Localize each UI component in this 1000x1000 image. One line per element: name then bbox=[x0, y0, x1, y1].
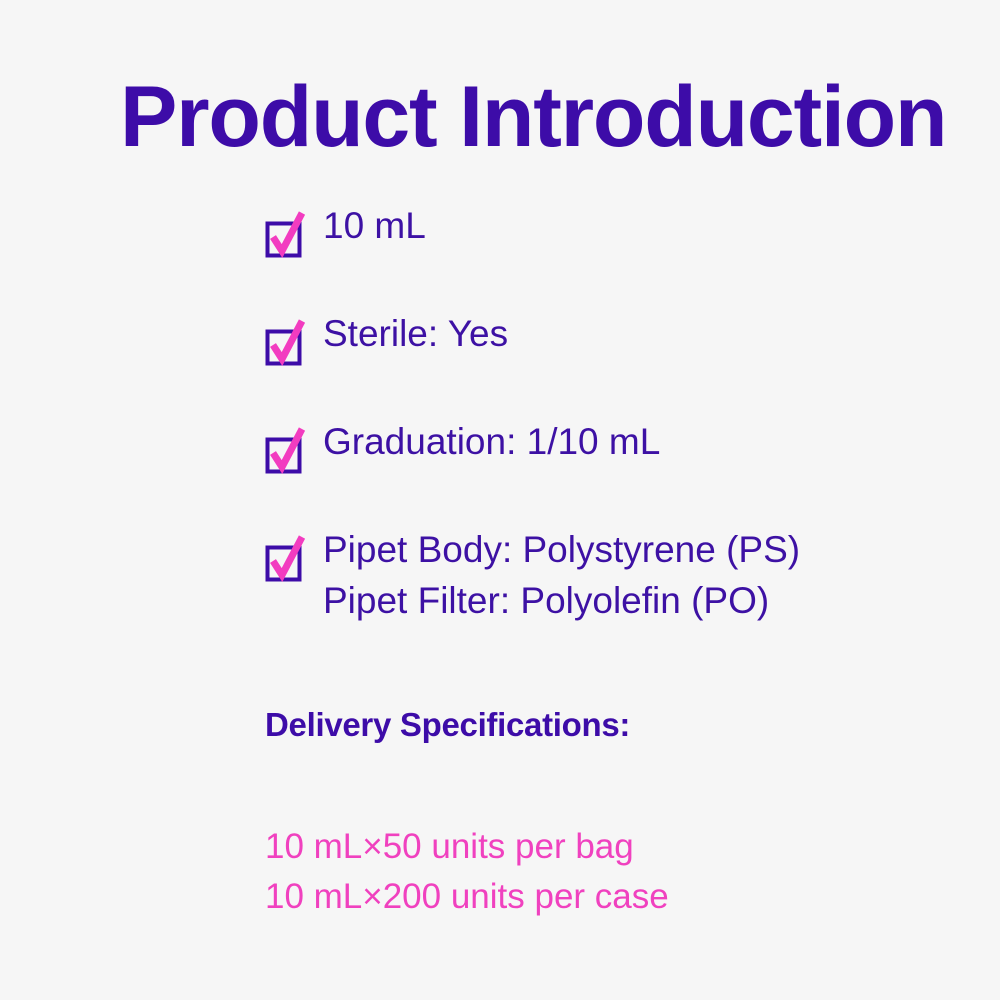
checked-checkbox-icon bbox=[265, 535, 303, 583]
delivery-specifications-list: 10 mL×50 units per bag 10 mL×200 units p… bbox=[265, 822, 669, 922]
checked-checkbox-icon bbox=[265, 427, 303, 475]
list-item-line-1: Graduation: 1/10 mL bbox=[323, 421, 660, 462]
delivery-spec-line: 10 mL×200 units per case bbox=[265, 872, 669, 922]
delivery-specifications-heading: Delivery Specifications: bbox=[265, 706, 630, 744]
list-item-label: Pipet Body: Polystyrene (PS) Pipet Filte… bbox=[323, 529, 965, 626]
list-item-line-1: Pipet Body: Polystyrene (PS) bbox=[323, 529, 800, 570]
list-item: Graduation: 1/10 mL bbox=[265, 416, 965, 476]
list-item-line-1: 10 mL bbox=[323, 205, 426, 246]
checked-checkbox-icon bbox=[265, 211, 303, 259]
list-item-line-2: Pipet Filter: Polyolefin (PO) bbox=[323, 575, 965, 626]
list-item-label: Sterile: Yes bbox=[323, 313, 508, 354]
list-item-label: 10 mL bbox=[323, 205, 426, 246]
list-item-label: Graduation: 1/10 mL bbox=[323, 421, 660, 462]
product-introduction-slide: Product Introduction 10 mL bbox=[0, 0, 1000, 1000]
list-item: Pipet Body: Polystyrene (PS) Pipet Filte… bbox=[265, 524, 965, 626]
list-item: 10 mL bbox=[265, 200, 965, 260]
list-item: Sterile: Yes bbox=[265, 308, 965, 368]
feature-checklist: 10 mL Sterile: Yes bbox=[265, 200, 965, 626]
list-item-line-1: Sterile: Yes bbox=[323, 313, 508, 354]
checked-checkbox-icon bbox=[265, 319, 303, 367]
page-title: Product Introduction bbox=[120, 72, 920, 163]
delivery-spec-line: 10 mL×50 units per bag bbox=[265, 822, 669, 872]
